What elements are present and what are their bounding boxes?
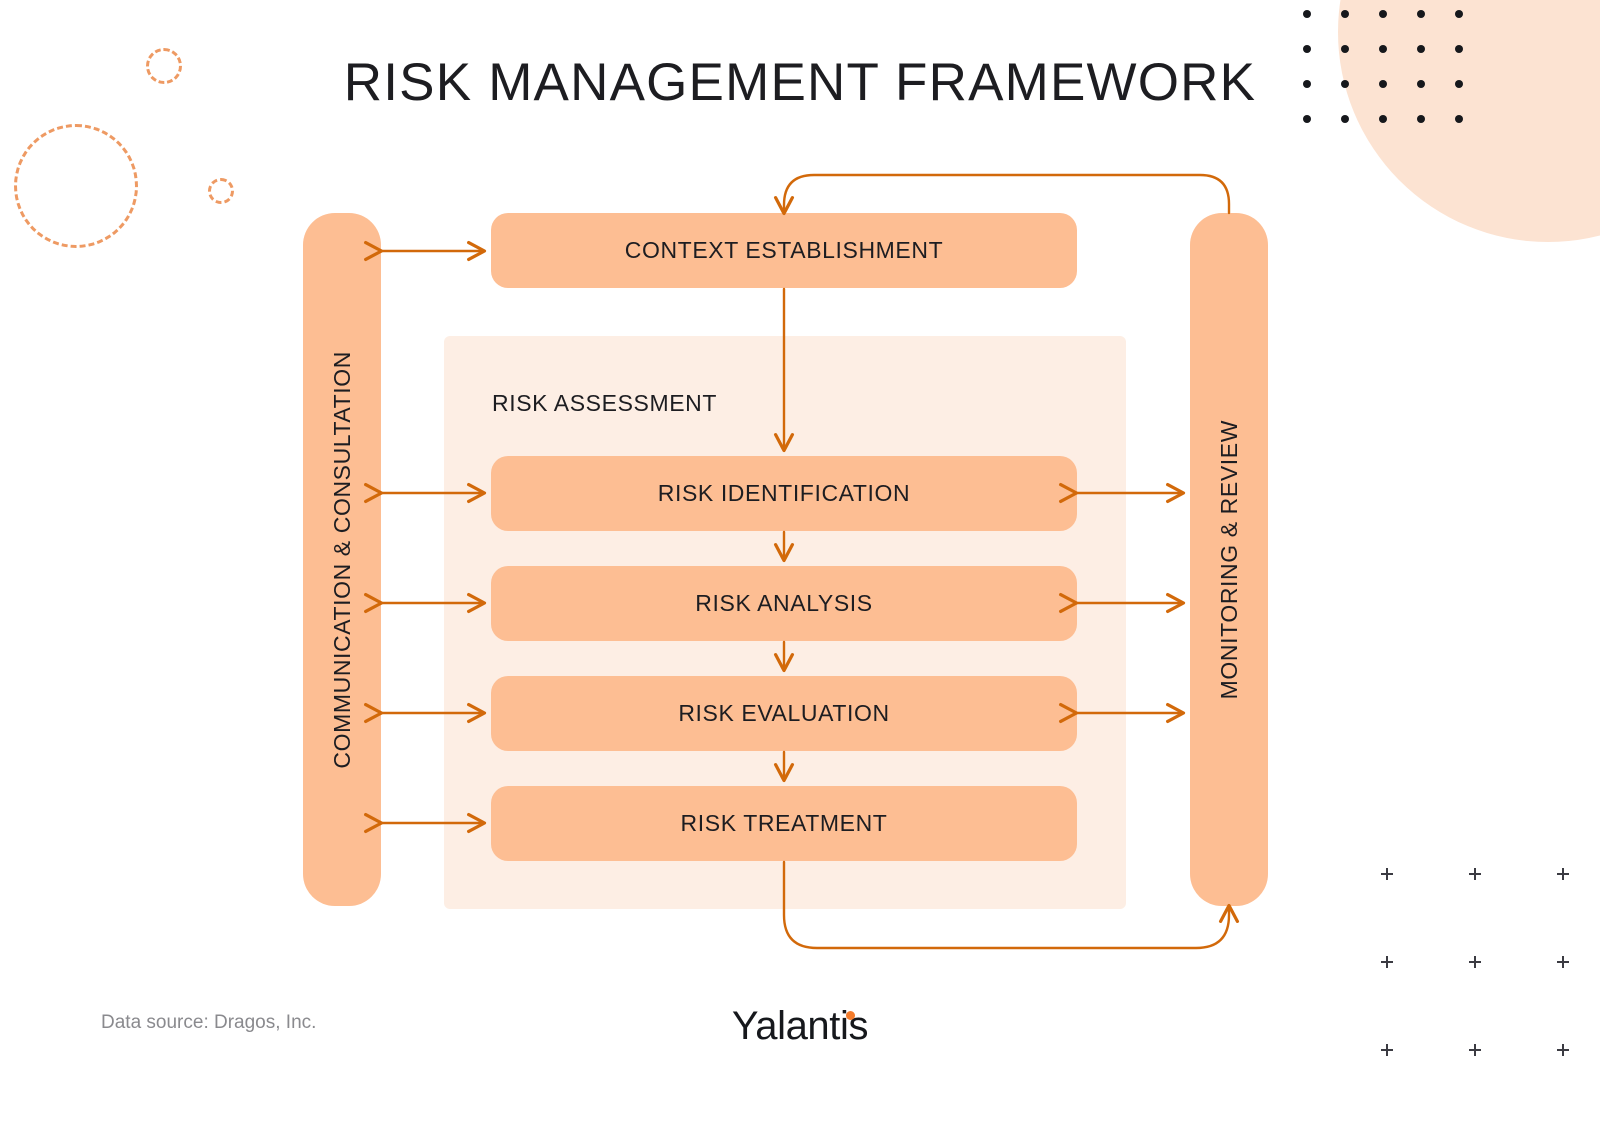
context-establishment-label: CONTEXT ESTABLISHMENT (625, 237, 943, 264)
risk-identification-label: RISK IDENTIFICATION (658, 480, 910, 507)
risk-assessment-panel-label: RISK ASSESSMENT (492, 390, 717, 417)
risk-framework-diagram: RISK ASSESSMENT COMMUNICATION & CONSULTA… (0, 0, 1600, 1132)
risk-evaluation-label: RISK EVALUATION (678, 700, 889, 727)
communication-consultation-bar[interactable]: COMMUNICATION & CONSULTATION (303, 213, 381, 906)
yalantis-logo: Yalantis (0, 1004, 1600, 1049)
monitoring-review-bar[interactable]: MONITORING & REVIEW (1190, 213, 1268, 906)
risk-identification-box[interactable]: RISK IDENTIFICATION (491, 456, 1077, 531)
infographic-canvas: RISK MANAGEMENT FRAMEWORK RISK ASSESSMEN… (0, 0, 1600, 1132)
risk-evaluation-box[interactable]: RISK EVALUATION (491, 676, 1077, 751)
risk-analysis-box[interactable]: RISK ANALYSIS (491, 566, 1077, 641)
communication-consultation-label: COMMUNICATION & CONSULTATION (329, 351, 356, 769)
logo-accent-dot-icon (846, 1011, 855, 1020)
risk-analysis-label: RISK ANALYSIS (695, 590, 872, 617)
risk-treatment-box[interactable]: RISK TREATMENT (491, 786, 1077, 861)
flow-monitoring-to-context-loop (784, 175, 1229, 213)
risk-treatment-label: RISK TREATMENT (681, 810, 888, 837)
monitoring-review-label: MONITORING & REVIEW (1216, 420, 1243, 699)
context-establishment-box[interactable]: CONTEXT ESTABLISHMENT (491, 213, 1077, 288)
